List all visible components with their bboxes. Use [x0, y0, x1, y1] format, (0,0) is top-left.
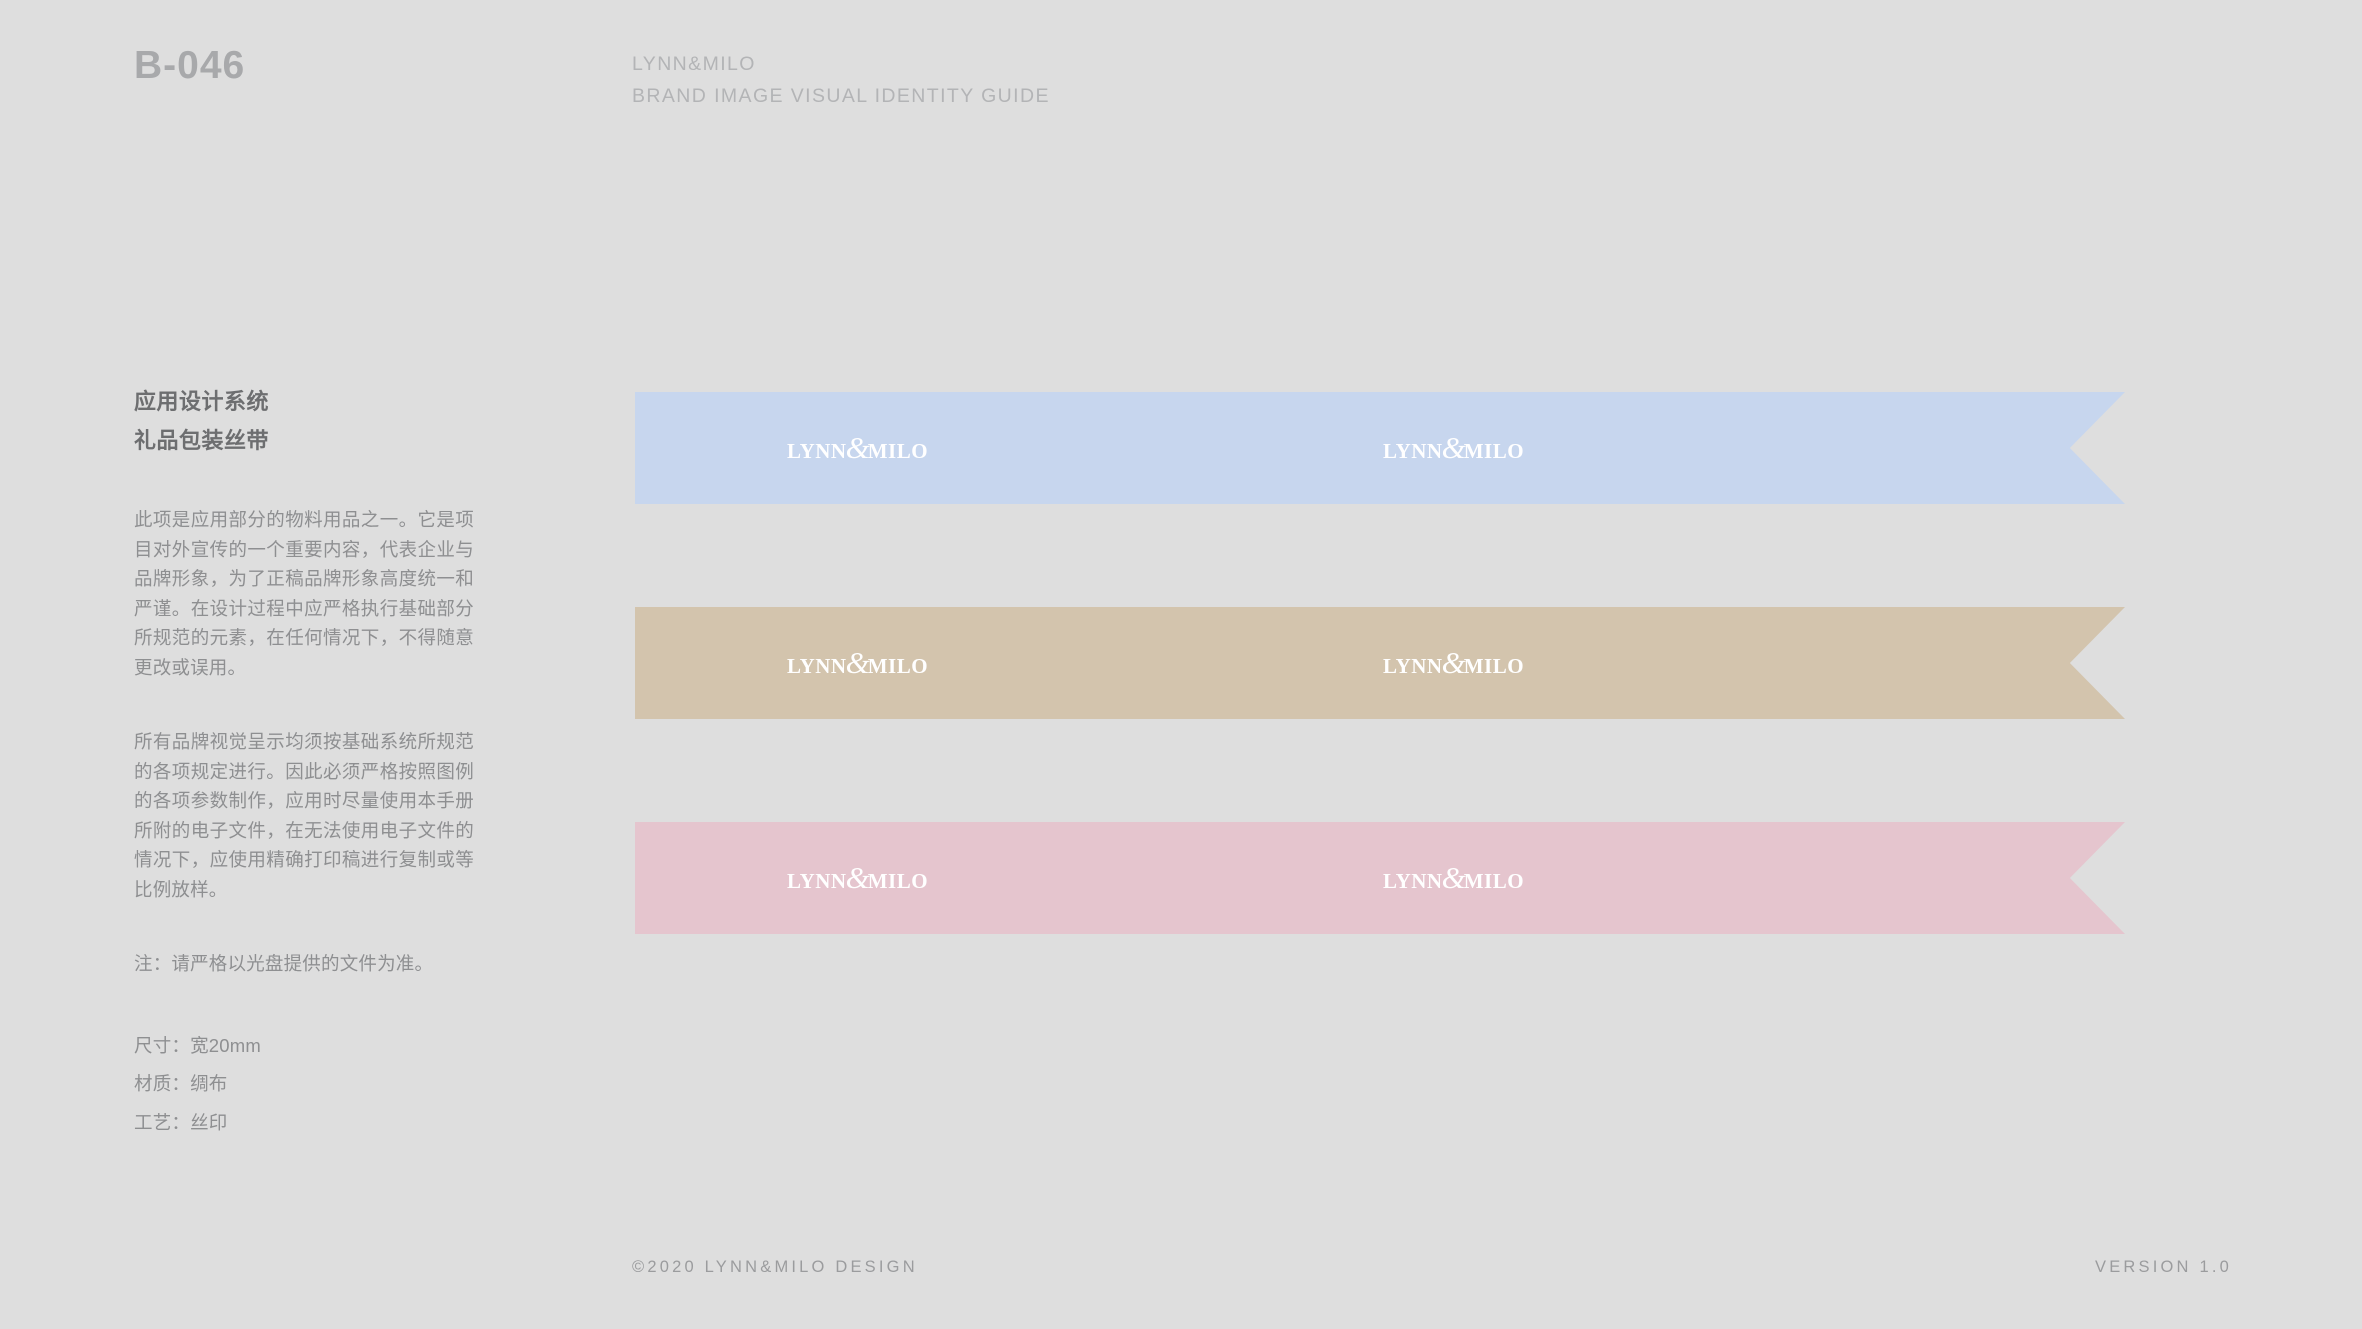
left-text-column: 应用设计系统 礼品包装丝带 此项是应用部分的物料用品之一。它是项目对外宣传的一个… — [134, 382, 474, 1142]
section-title-line-1: 应用设计系统 — [134, 382, 474, 421]
logo-text-suffix: MILO — [1464, 432, 1524, 465]
spec-item-process: 工艺：丝印 — [134, 1104, 474, 1143]
spec-item-size: 尺寸：宽20mm — [134, 1027, 474, 1066]
ribbon-logo-lockup: LYNN&MILO — [1383, 860, 1524, 896]
page-code: B-046 — [134, 44, 245, 88]
logo-text-suffix: MILO — [868, 862, 928, 895]
logo-ampersand: & — [1442, 430, 1465, 465]
logo-ampersand: & — [1442, 645, 1465, 680]
description-paragraph-1: 此项是应用部分的物料用品之一。它是项目对外宣传的一个重要内容，代表企业与品牌形象… — [134, 505, 474, 682]
header-brand-name: LYNN&MILO — [632, 48, 1050, 80]
section-title: 应用设计系统 礼品包装丝带 — [134, 382, 474, 460]
logo-text-suffix: MILO — [868, 647, 928, 680]
ribbon-mockup-group: LYNN&MILO LYNN&MILO LYNN&MILO LYNN&MILO … — [635, 392, 2125, 934]
logo-text-prefix: LYNN — [787, 432, 847, 465]
specification-list: 尺寸：宽20mm 材质：绸布 工艺：丝印 — [134, 1027, 474, 1143]
pink-ribbon: LYNN&MILO LYNN&MILO — [635, 822, 2125, 934]
logo-text-suffix: MILO — [1464, 862, 1524, 895]
ribbon-logo-lockup: LYNN&MILO — [787, 645, 928, 681]
ribbon-logo-lockup: LYNN&MILO — [787, 430, 928, 466]
blue-ribbon: LYNN&MILO LYNN&MILO — [635, 392, 2125, 504]
logo-text-suffix: MILO — [868, 432, 928, 465]
logo-text-prefix: LYNN — [1383, 647, 1443, 680]
logo-text-prefix: LYNN — [787, 647, 847, 680]
ribbon-logo-lockup: LYNN&MILO — [1383, 645, 1524, 681]
logo-text-prefix: LYNN — [1383, 862, 1443, 895]
logo-text-prefix: LYNN — [1383, 432, 1443, 465]
logo-ampersand: & — [1442, 860, 1465, 895]
header-subtitle: BRAND IMAGE VISUAL IDENTITY GUIDE — [632, 80, 1050, 112]
spec-item-material: 材质：绸布 — [134, 1065, 474, 1104]
logo-ampersand: & — [846, 860, 869, 895]
logo-text-suffix: MILO — [1464, 647, 1524, 680]
footer-version: VERSION 1.0 — [2095, 1258, 2232, 1277]
ribbon-logo-lockup: LYNN&MILO — [1383, 430, 1524, 466]
logo-ampersand: & — [846, 645, 869, 680]
note-text: 注：请严格以光盘提供的文件为准。 — [134, 949, 474, 979]
description-paragraph-2: 所有品牌视觉呈示均须按基础系统所规范的各项规定进行。因此必须严格按照图例的各项参… — [134, 727, 474, 904]
logo-ampersand: & — [846, 430, 869, 465]
footer-copyright: ©2020 LYNN&MILO DESIGN — [632, 1258, 918, 1277]
tan-ribbon: LYNN&MILO LYNN&MILO — [635, 607, 2125, 719]
section-title-line-2: 礼品包装丝带 — [134, 421, 474, 460]
logo-text-prefix: LYNN — [787, 862, 847, 895]
ribbon-logo-lockup: LYNN&MILO — [787, 860, 928, 896]
document-header: LYNN&MILO BRAND IMAGE VISUAL IDENTITY GU… — [632, 48, 1050, 112]
